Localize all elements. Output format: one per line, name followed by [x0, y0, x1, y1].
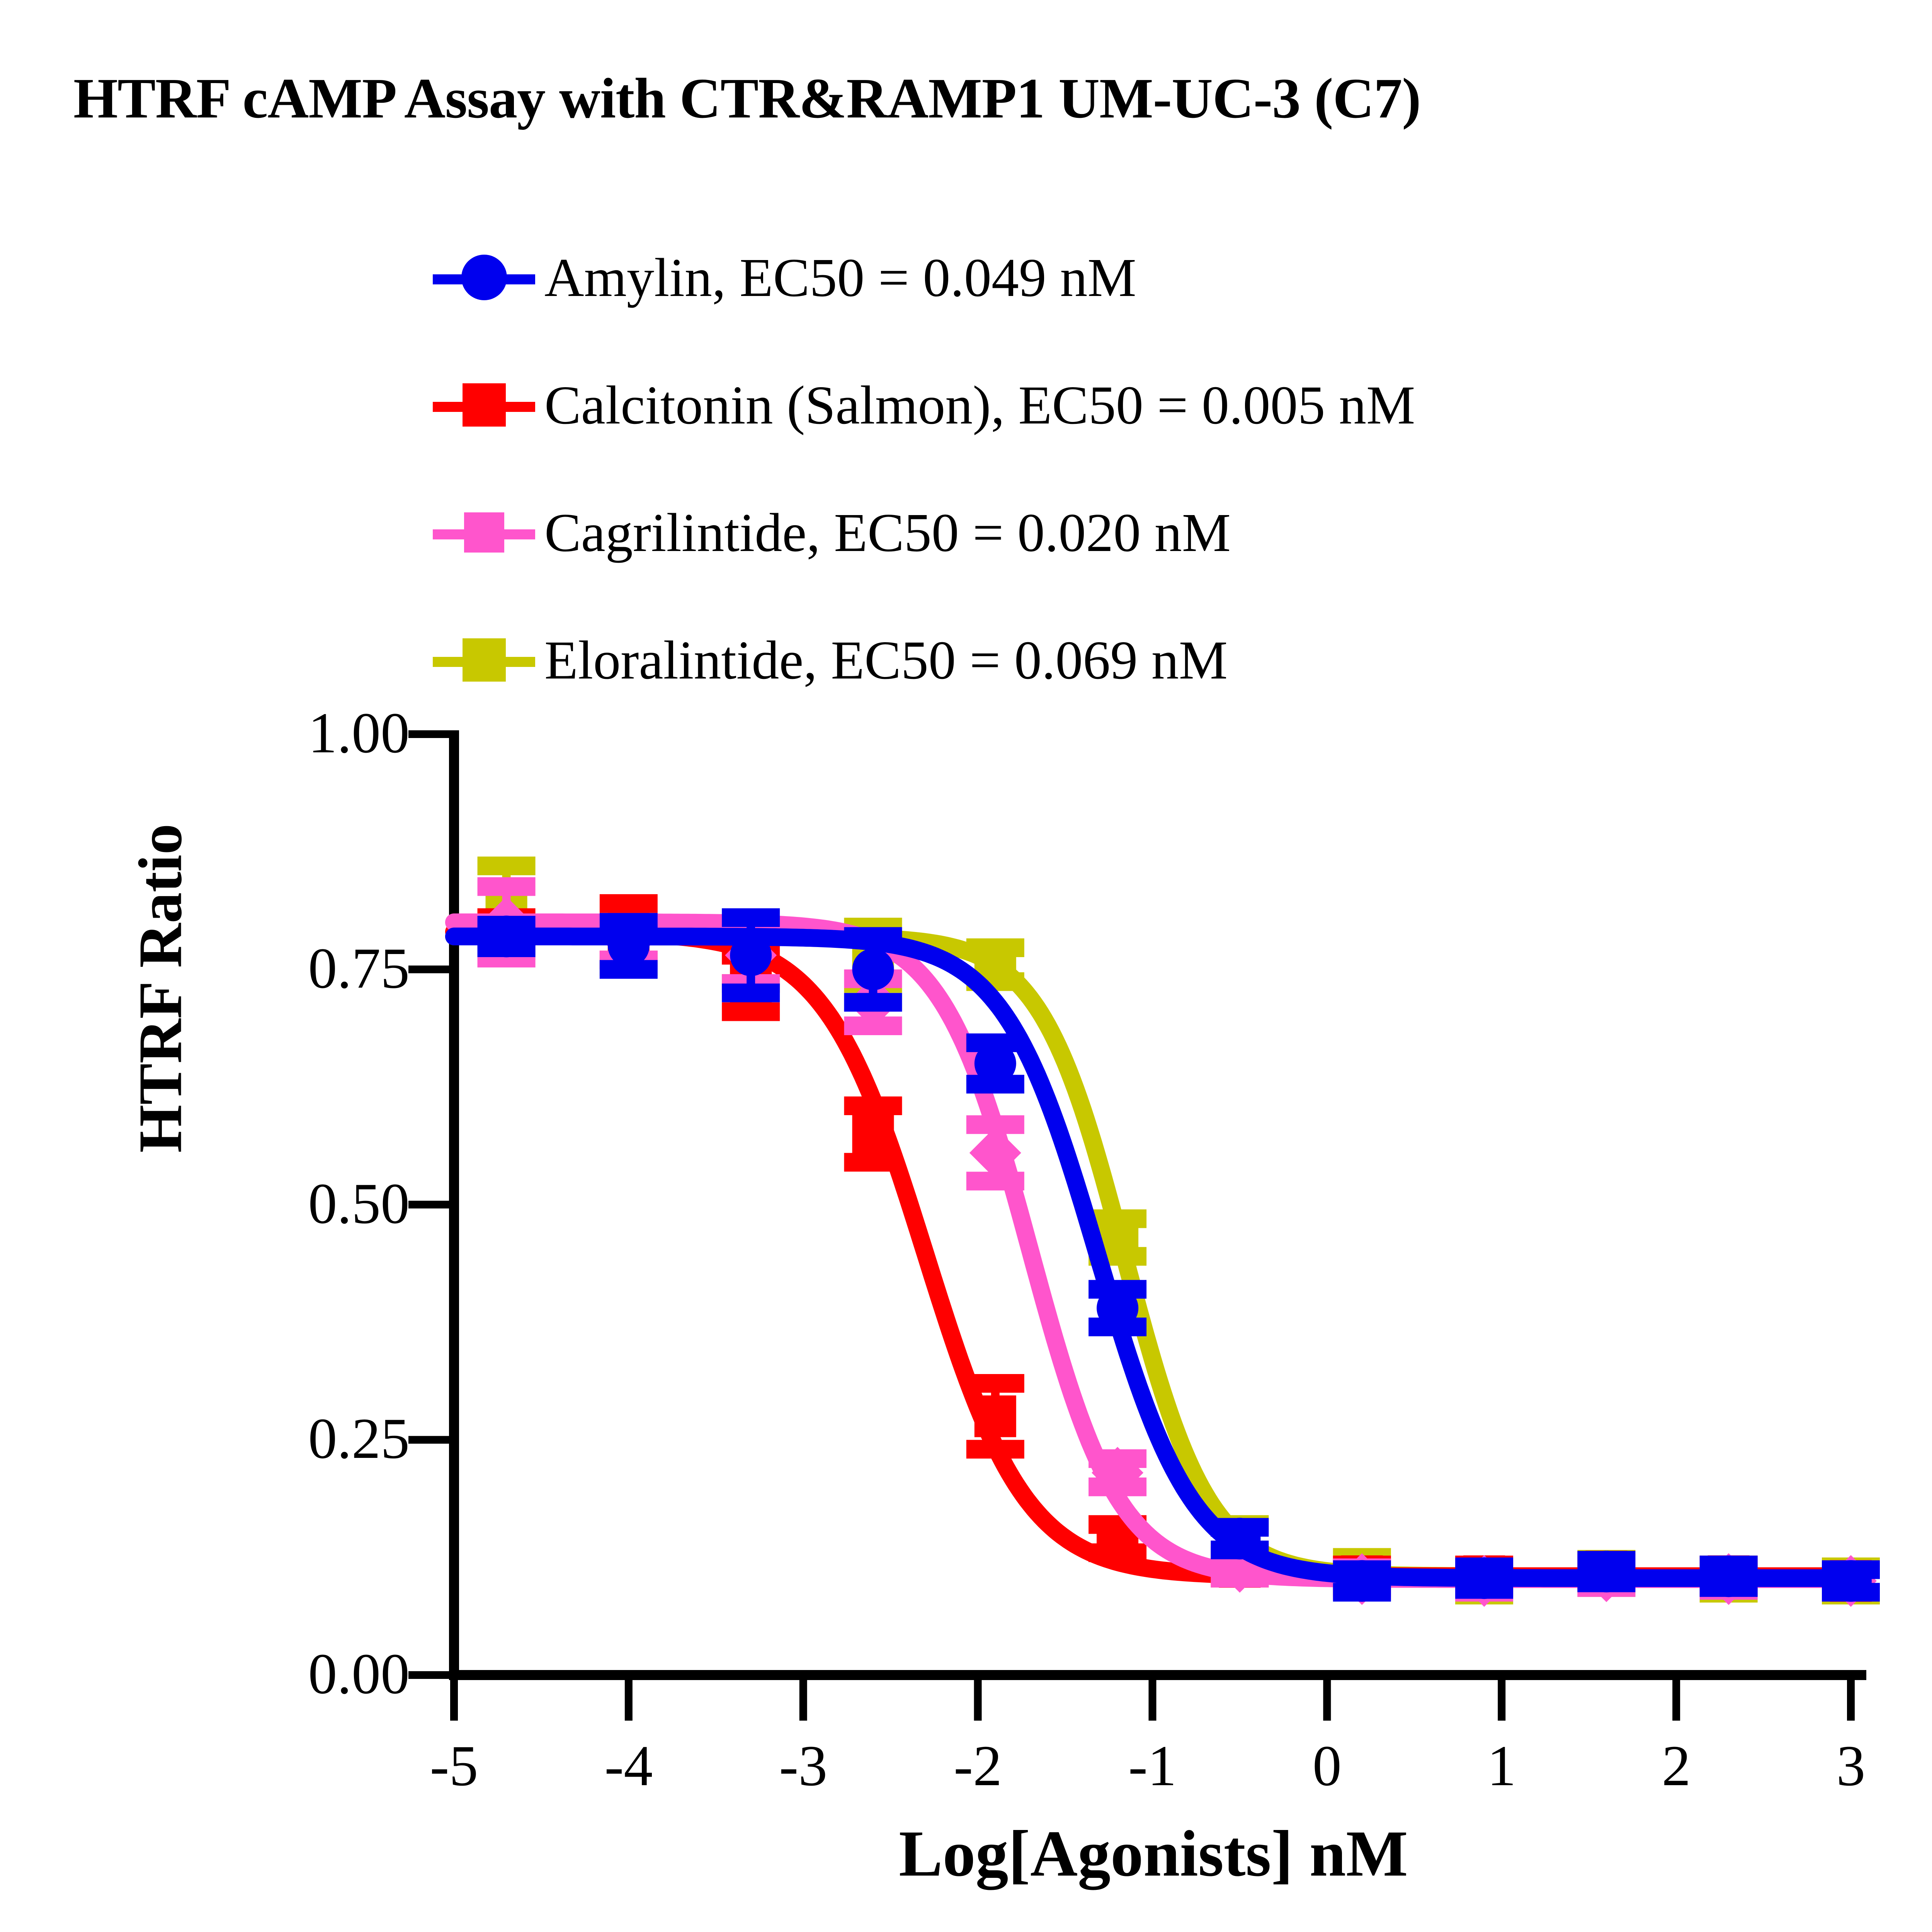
- y-tick-label: 0.75: [155, 939, 410, 997]
- data-point[interactable]: [852, 1113, 894, 1155]
- x-axis-title: Log[Agonists] nM: [454, 1816, 1853, 1891]
- data-point[interactable]: [975, 1043, 1016, 1084]
- x-tick-label: 0: [1257, 1737, 1396, 1795]
- series-1: [454, 903, 1880, 1602]
- data-point[interactable]: [1219, 1518, 1260, 1560]
- x-tick-label: -1: [1083, 1737, 1222, 1795]
- series-2: [454, 886, 1880, 1607]
- data-point[interactable]: [1708, 1555, 1750, 1597]
- data-point[interactable]: [730, 934, 772, 976]
- series-3: [454, 866, 1880, 1602]
- x-tick-label: 3: [1781, 1737, 1920, 1795]
- y-tick-label: 1.00: [155, 704, 410, 762]
- x-tick-label: -3: [734, 1737, 873, 1795]
- data-point[interactable]: [1341, 1560, 1383, 1602]
- data-point[interactable]: [608, 925, 650, 967]
- series-curve: [454, 937, 1851, 1577]
- series-0: [454, 916, 1880, 1602]
- x-tick-label: 2: [1607, 1737, 1746, 1795]
- series-curve: [454, 932, 1851, 1577]
- data-point[interactable]: [1097, 1287, 1138, 1329]
- x-tick-label: -2: [908, 1737, 1048, 1795]
- data-point[interactable]: [1463, 1557, 1505, 1599]
- series-curve: [454, 922, 1851, 1579]
- data-point[interactable]: [1585, 1551, 1627, 1592]
- data-point[interactable]: [975, 1395, 1016, 1437]
- x-tick-label: -4: [559, 1737, 698, 1795]
- data-point[interactable]: [486, 916, 527, 957]
- data-point[interactable]: [852, 949, 894, 990]
- data-point[interactable]: [1830, 1560, 1872, 1602]
- x-tick-label: 1: [1432, 1737, 1571, 1795]
- series-curve: [454, 937, 1851, 1578]
- y-tick-label: 0.25: [155, 1410, 410, 1468]
- y-tick-label: 0.00: [155, 1645, 410, 1703]
- y-tick-label: 0.50: [155, 1175, 410, 1233]
- x-tick-label: -5: [384, 1737, 524, 1795]
